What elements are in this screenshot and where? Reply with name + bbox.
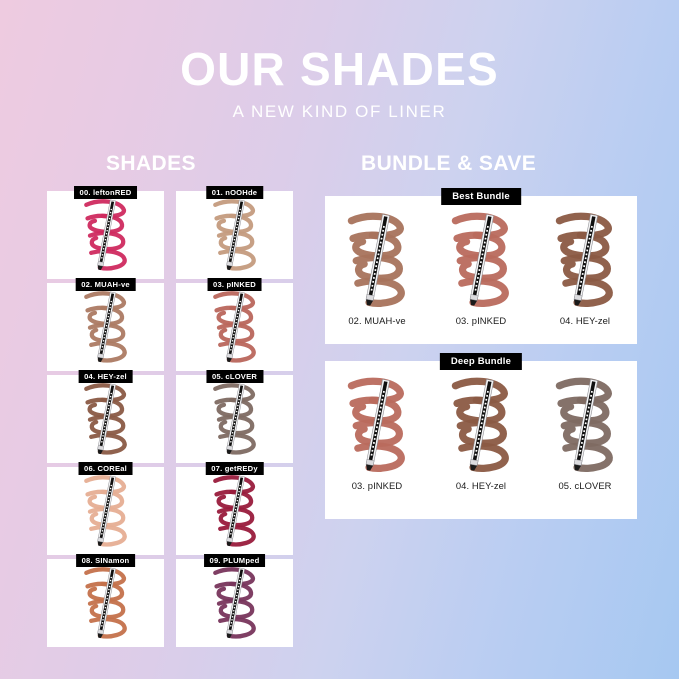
header: OUR SHADES A NEW KIND OF LINER xyxy=(0,46,679,122)
shade-cell[interactable]: 01. nOOHde xyxy=(176,191,293,279)
shade-cell[interactable]: 08. SINamon xyxy=(47,559,164,647)
section-heading-shades: SHADES xyxy=(106,152,196,176)
shade-swatch xyxy=(337,373,417,477)
bundle-item-label: 04. HEY-zel xyxy=(456,480,506,491)
bundle-panel-deep: Deep Bundle 03. pINKED04. HEY-zel05. cLO… xyxy=(325,361,637,519)
bundle-swatch-wrap xyxy=(337,373,417,477)
shade-label: 06. COREal xyxy=(78,462,133,475)
bundle-item-label: 05. cLOVER xyxy=(558,480,611,491)
shade-cell[interactable]: 05. cLOVER xyxy=(176,375,293,463)
shade-swatch-wrap xyxy=(176,559,293,647)
shade-swatch xyxy=(337,208,417,312)
shade-swatch-wrap xyxy=(176,283,293,371)
bundle-item-label: 02. MUAH-ve xyxy=(348,315,405,326)
shade-swatch-wrap xyxy=(176,467,293,555)
shade-cell[interactable]: 09. PLUMped xyxy=(176,559,293,647)
shade-swatch xyxy=(545,208,625,312)
shade-swatch xyxy=(75,287,137,367)
bundle-item-label: 04. HEY-zel xyxy=(560,315,610,326)
bundle-tag: Best Bundle xyxy=(441,188,521,205)
shade-swatch xyxy=(204,379,266,459)
section-heading-bundle: BUNDLE & SAVE xyxy=(361,152,536,176)
shade-swatch-wrap xyxy=(47,283,164,371)
shade-cell[interactable]: 07. getREDy xyxy=(176,467,293,555)
bundle-item[interactable]: 04. HEY-zel xyxy=(535,208,635,326)
shade-swatch xyxy=(75,379,137,459)
shade-swatch-wrap xyxy=(47,467,164,555)
shade-swatch xyxy=(441,373,521,477)
bundle-item[interactable]: 04. HEY-zel xyxy=(431,373,531,491)
shade-swatch xyxy=(75,195,137,275)
shade-swatch xyxy=(204,471,266,551)
page-title: OUR SHADES xyxy=(0,46,679,92)
shade-swatch xyxy=(204,287,266,367)
shade-swatch xyxy=(75,563,137,643)
bundle-item[interactable]: 05. cLOVER xyxy=(535,373,635,491)
shade-swatch-wrap xyxy=(47,375,164,463)
shade-label: 07. getREDy xyxy=(205,462,264,475)
shade-cell[interactable]: 04. HEY-zel xyxy=(47,375,164,463)
shade-swatch-wrap xyxy=(47,191,164,279)
bundle-item[interactable]: 02. MUAH-ve xyxy=(327,208,427,326)
bundle-item[interactable]: 03. pINKED xyxy=(431,208,531,326)
bundle-swatch-wrap xyxy=(441,208,521,312)
shade-swatch-wrap xyxy=(47,559,164,647)
bundle-swatch-wrap xyxy=(337,208,417,312)
shade-cell[interactable]: 00. leftonRED xyxy=(47,191,164,279)
page-subtitle: A NEW KIND OF LINER xyxy=(0,102,679,122)
shade-label: 03. pINKED xyxy=(207,278,262,291)
shade-label: 02. MUAH-ve xyxy=(75,278,136,291)
bundle-swatch-wrap xyxy=(545,208,625,312)
bundle-row: 02. MUAH-ve03. pINKED04. HEY-zel xyxy=(325,208,637,338)
bundle-item-label: 03. pINKED xyxy=(352,480,403,491)
shade-swatch xyxy=(441,208,521,312)
bundle-swatch-wrap xyxy=(545,373,625,477)
bundle-panel-best: Best Bundle 02. MUAH-ve03. pINKED04. HEY… xyxy=(325,196,637,344)
shades-grid: 00. leftonRED01. nOOHde02. MUAH-ve03. pI… xyxy=(47,191,293,647)
shade-label: 05. cLOVER xyxy=(206,370,263,383)
shade-label: 08. SINamon xyxy=(76,554,136,567)
product-shade-chart: OUR SHADES A NEW KIND OF LINER SHADES BU… xyxy=(0,0,679,679)
shade-swatch xyxy=(204,563,266,643)
shade-swatch xyxy=(545,373,625,477)
shade-label: 04. HEY-zel xyxy=(78,370,133,383)
shade-swatch xyxy=(75,471,137,551)
shade-label: 09. PLUMped xyxy=(204,554,266,567)
shade-cell[interactable]: 06. COREal xyxy=(47,467,164,555)
shade-swatch xyxy=(204,195,266,275)
shade-cell[interactable]: 02. MUAH-ve xyxy=(47,283,164,371)
bundle-tag: Deep Bundle xyxy=(440,353,522,370)
shade-label: 00. leftonRED xyxy=(74,186,138,199)
shade-label: 01. nOOHde xyxy=(206,186,263,199)
bundle-row: 03. pINKED04. HEY-zel05. cLOVER xyxy=(325,373,637,513)
shade-swatch-wrap xyxy=(176,191,293,279)
shade-swatch-wrap xyxy=(176,375,293,463)
shade-cell[interactable]: 03. pINKED xyxy=(176,283,293,371)
bundle-item[interactable]: 03. pINKED xyxy=(327,373,427,491)
bundle-item-label: 03. pINKED xyxy=(456,315,507,326)
bundle-swatch-wrap xyxy=(441,373,521,477)
